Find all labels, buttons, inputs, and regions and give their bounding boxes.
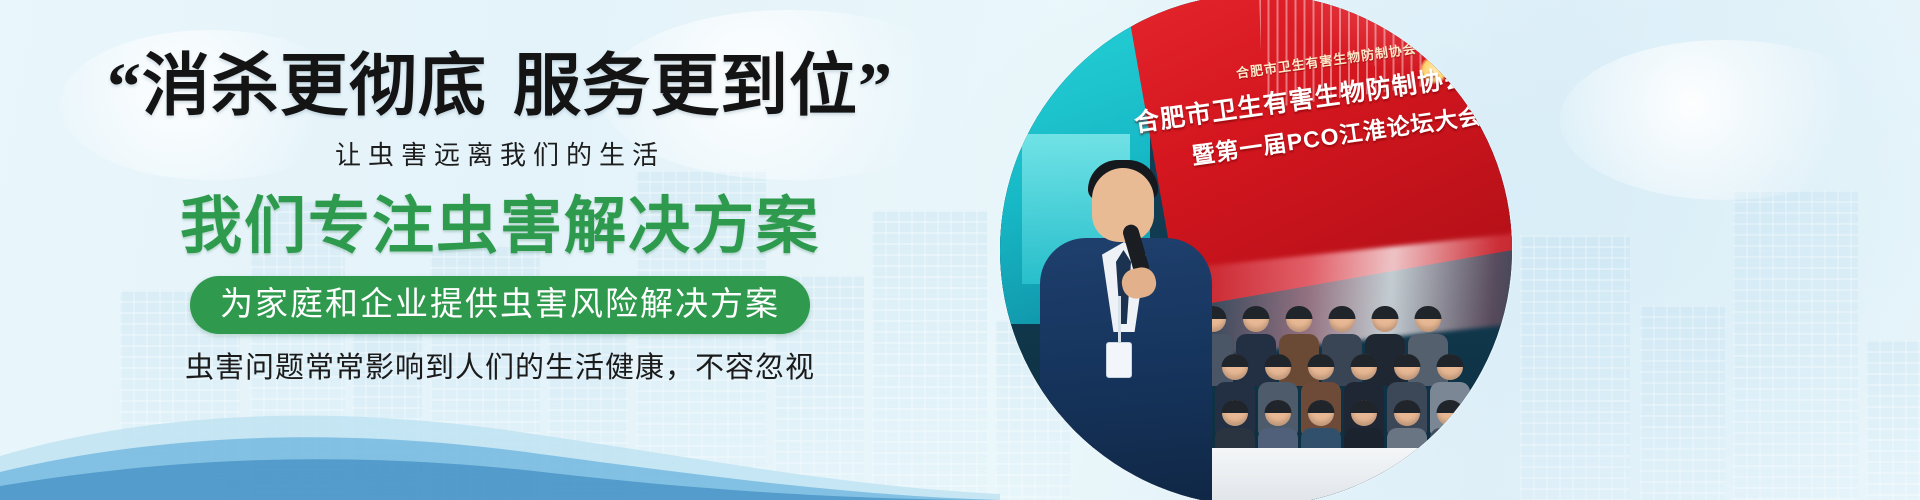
sub-headline: 让虫害远离我们的生活 bbox=[335, 142, 665, 168]
close-quote: ” bbox=[858, 48, 893, 124]
open-quote: “ bbox=[107, 48, 142, 124]
bottom-wave-decoration bbox=[0, 360, 1920, 500]
headline-phrase-1: 消杀更彻底 bbox=[142, 48, 487, 124]
solution-pill-label: 为家庭和企业提供虫害风险解决方案 bbox=[190, 276, 810, 334]
headline-phrase-2: 服务更到位 bbox=[513, 48, 858, 124]
green-headline: 我们专注虫害解决方案 bbox=[180, 196, 820, 258]
pest-control-hero-banner: “消杀更彻底服务更到位” 让虫害远离我们的生活 我们专注虫害解决方案 为家庭和企… bbox=[0, 0, 1920, 500]
main-headline: “消杀更彻底服务更到位” bbox=[107, 52, 893, 120]
cloud-decoration bbox=[1560, 40, 1890, 200]
